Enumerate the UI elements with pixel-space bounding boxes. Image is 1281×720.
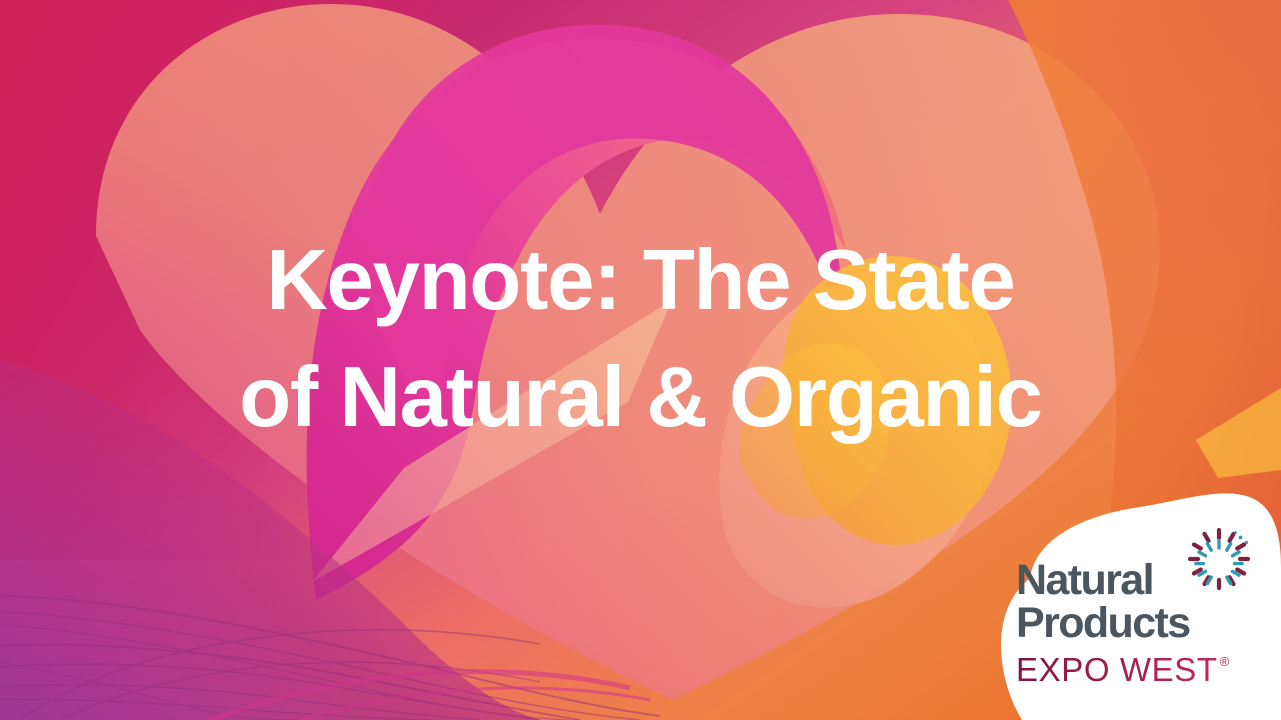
brand-logo-lockup: Natural Products EXPO WEST® bbox=[988, 482, 1281, 720]
logo-wordmark-products: Products bbox=[1016, 603, 1266, 644]
logo-wordmark-expo-west: EXPO WEST bbox=[1016, 653, 1218, 686]
sunburst-icon bbox=[1188, 528, 1250, 590]
sunburst-dots bbox=[1234, 531, 1248, 544]
logo-expo-west-row: EXPO WEST® bbox=[1016, 653, 1266, 687]
registered-trademark-icon: ® bbox=[1220, 654, 1230, 669]
sunburst-inner-rays bbox=[1196, 541, 1242, 584]
presentation-slide: Keynote: The State of Natural & Organic bbox=[0, 0, 1281, 720]
logo-content: Natural Products EXPO WEST® bbox=[1016, 522, 1266, 712]
